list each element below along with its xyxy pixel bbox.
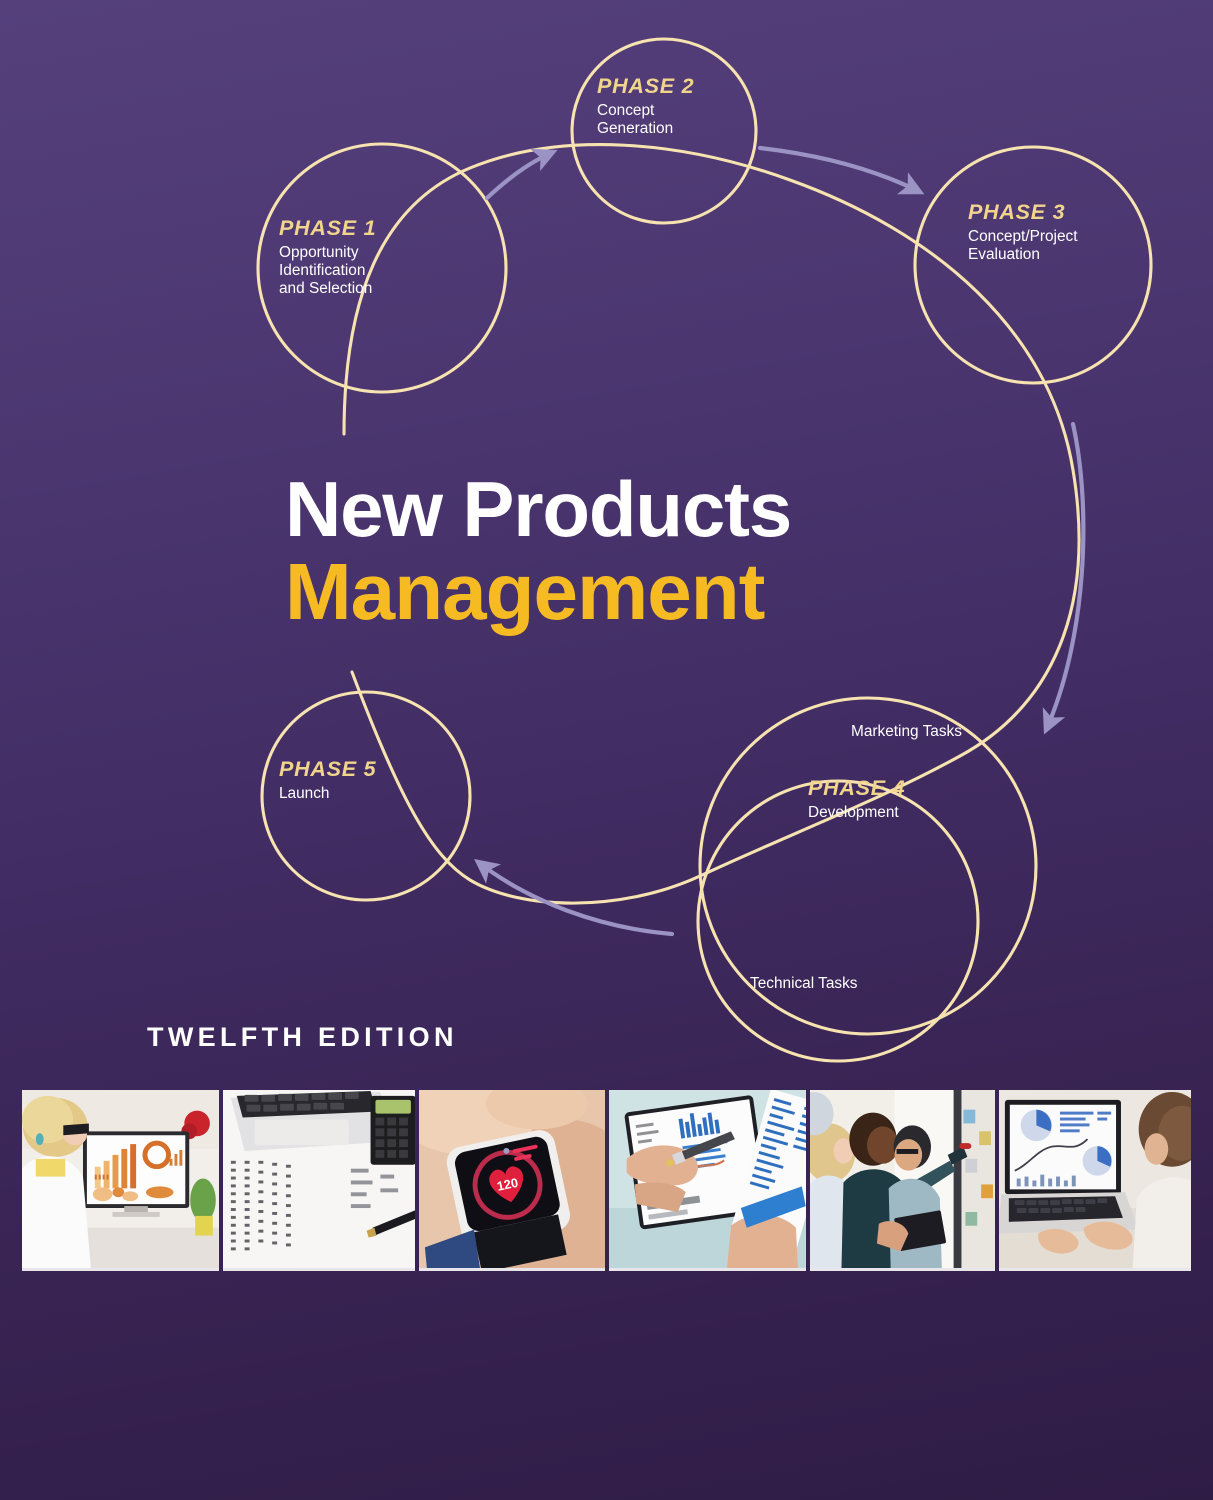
photo-1-woman-at-dashboard: [22, 1090, 219, 1271]
photo-4-hands-tablet-charts: [609, 1090, 806, 1271]
phase-2-subtitle: Concept Generation: [597, 102, 694, 138]
technical-tasks-label: Technical Tasks: [750, 975, 858, 993]
photo-6-person-laptop-analytics: [999, 1090, 1191, 1271]
photo-strip: 120: [0, 1090, 1213, 1271]
phase-5-label-group: PHASE 5 Launch: [279, 757, 376, 803]
edition-label: TWELFTH EDITION: [147, 1022, 458, 1053]
arrow-phase2-to-phase3: [760, 148, 920, 192]
authors-row: Mc Graw Hill C. Merle Crawford C. Anthon…: [0, 1310, 1213, 1440]
phase-1-label-group: PHASE 1 Opportunity Identification and S…: [279, 216, 376, 298]
phase-3-number: PHASE 3: [968, 200, 1078, 225]
phase-5-number: PHASE 5: [279, 757, 376, 782]
phase-3-subtitle: Concept/Project Evaluation: [968, 228, 1078, 264]
phase-1-number: PHASE 1: [279, 216, 376, 241]
phase-5-subtitle: Launch: [279, 785, 376, 803]
book-title-line-2: Management: [285, 552, 985, 632]
phase-1-subtitle: Opportunity Identification and Selection: [279, 244, 376, 298]
phase-4-label-group: PHASE 4 Development: [808, 776, 905, 822]
title-group: New Products Management: [285, 472, 985, 632]
photo-3-smartwatch-heartrate: 120: [419, 1090, 606, 1271]
phase-3-circle: [915, 147, 1151, 383]
photo-5-team-whiteboard: [810, 1090, 995, 1271]
phase-3-label-group: PHASE 3 Concept/Project Evaluation: [968, 200, 1078, 264]
phase-4-number: PHASE 4: [808, 776, 905, 801]
phase-2-label-group: PHASE 2 Concept Generation: [597, 74, 694, 138]
phase-4-subtitle: Development: [808, 804, 905, 822]
photo-2-laptop-spreadsheet: [223, 1090, 415, 1271]
technical-tasks-circle: [698, 781, 978, 1061]
marketing-tasks-label: Marketing Tasks: [851, 723, 962, 741]
phase-2-number: PHASE 2: [597, 74, 694, 99]
arrow-phase4-to-phase5: [478, 862, 672, 934]
book-title-line-1: New Products: [285, 472, 985, 546]
book-cover: PHASE 1 Opportunity Identification and S…: [0, 0, 1213, 1500]
